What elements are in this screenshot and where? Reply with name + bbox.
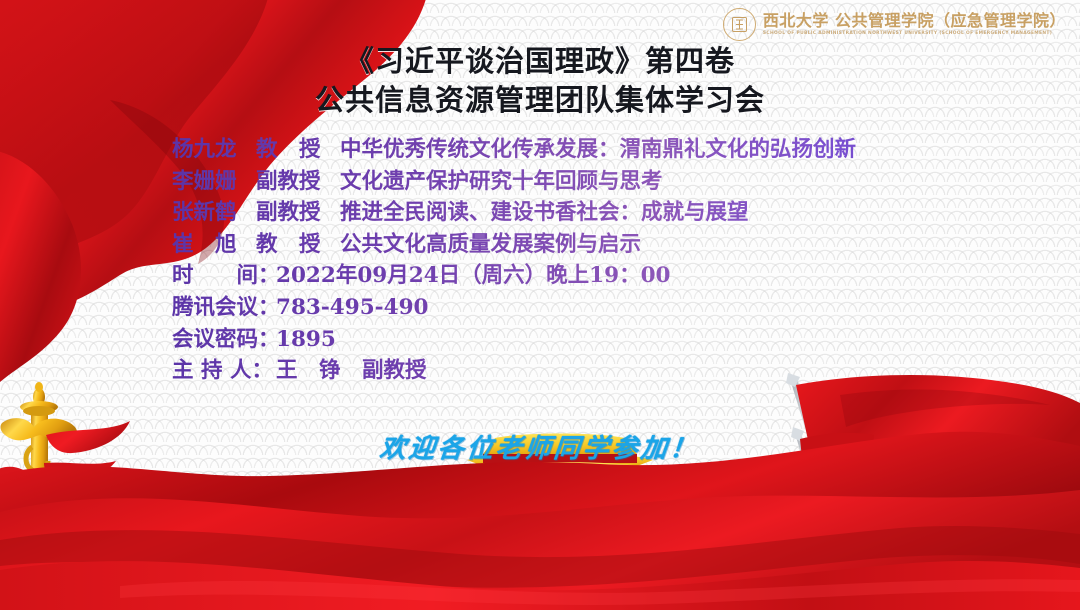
detail-row-meeting-id: 腾讯会议： 783-495-490 bbox=[172, 292, 1002, 324]
speaker-row: 崔 旭 教 授 公共文化高质量发展案例与启示 bbox=[172, 229, 1002, 261]
speaker-rank: 教 授 bbox=[256, 134, 340, 166]
welcome-text: 欢迎各位老师同学参加！ bbox=[379, 428, 702, 465]
speaker-topic: 文化遗产保护研究十年回顾与思考 bbox=[340, 166, 663, 198]
title-line-2: 公共信息资源管理团队集体学习会 bbox=[0, 81, 1080, 120]
welcome-banner: 欢迎各位老师同学参加！ bbox=[0, 428, 1080, 465]
detail-label: 会议密码： bbox=[172, 324, 276, 356]
university-logo: 西北大学 公共管理学院（应急管理学院） SCHOOL OF PUBLIC ADM… bbox=[723, 8, 1066, 41]
poster-canvas: 西北大学 公共管理学院（应急管理学院） SCHOOL OF PUBLIC ADM… bbox=[0, 0, 1080, 610]
speaker-topic: 公共文化高质量发展案例与启示 bbox=[340, 229, 641, 261]
speaker-row: 李姗姗 副教授 文化遗产保护研究十年回顾与思考 bbox=[172, 166, 1002, 198]
speaker-name: 杨九龙 bbox=[172, 134, 256, 166]
detail-label: 主 持 人： bbox=[172, 355, 276, 387]
speaker-name: 张新鹤 bbox=[172, 197, 256, 229]
detail-value: 2022年09月24日（周六）晚上19：00 bbox=[276, 260, 671, 292]
speaker-row: 张新鹤 副教授 推进全民阅读、建设书香社会：成就与展望 bbox=[172, 197, 1002, 229]
detail-row-time: 时 间： 2022年09月24日（周六）晚上19：00 bbox=[172, 260, 1002, 292]
detail-row-host: 主 持 人： 王 铮 副教授 bbox=[172, 355, 1002, 387]
detail-value: 王 铮 副教授 bbox=[276, 355, 427, 387]
logo-english-name: SCHOOL OF PUBLIC ADMINISTRATION NORTHWES… bbox=[763, 32, 1066, 36]
detail-value: 1895 bbox=[276, 324, 336, 356]
detail-label: 腾讯会议： bbox=[172, 292, 276, 324]
logo-chinese-name: 西北大学 公共管理学院（应急管理学院） bbox=[763, 13, 1066, 29]
speaker-rank: 副教授 bbox=[256, 166, 340, 198]
page-title: 《习近平谈治国理政》第四卷 公共信息资源管理团队集体学习会 bbox=[0, 42, 1080, 119]
speaker-name: 崔 旭 bbox=[172, 229, 256, 261]
speaker-topic: 中华优秀传统文化传承发展：渭南鼎礼文化的弘扬创新 bbox=[340, 134, 856, 166]
speaker-rank: 教 授 bbox=[256, 229, 340, 261]
detail-label: 时 间： bbox=[172, 260, 276, 292]
detail-row-password: 会议密码： 1895 bbox=[172, 324, 1002, 356]
speaker-rank: 副教授 bbox=[256, 197, 340, 229]
speaker-topic: 推进全民阅读、建设书香社会：成就与展望 bbox=[340, 197, 749, 229]
university-seal-icon bbox=[723, 8, 756, 41]
agenda-block: 杨九龙 教 授 中华优秀传统文化传承发展：渭南鼎礼文化的弘扬创新 李姗姗 副教授… bbox=[172, 134, 1002, 387]
detail-value: 783-495-490 bbox=[276, 292, 428, 324]
title-line-1: 《习近平谈治国理政》第四卷 bbox=[0, 42, 1080, 81]
speaker-name: 李姗姗 bbox=[172, 166, 256, 198]
seal-glyph-icon bbox=[730, 15, 749, 34]
speaker-row: 杨九龙 教 授 中华优秀传统文化传承发展：渭南鼎礼文化的弘扬创新 bbox=[172, 134, 1002, 166]
